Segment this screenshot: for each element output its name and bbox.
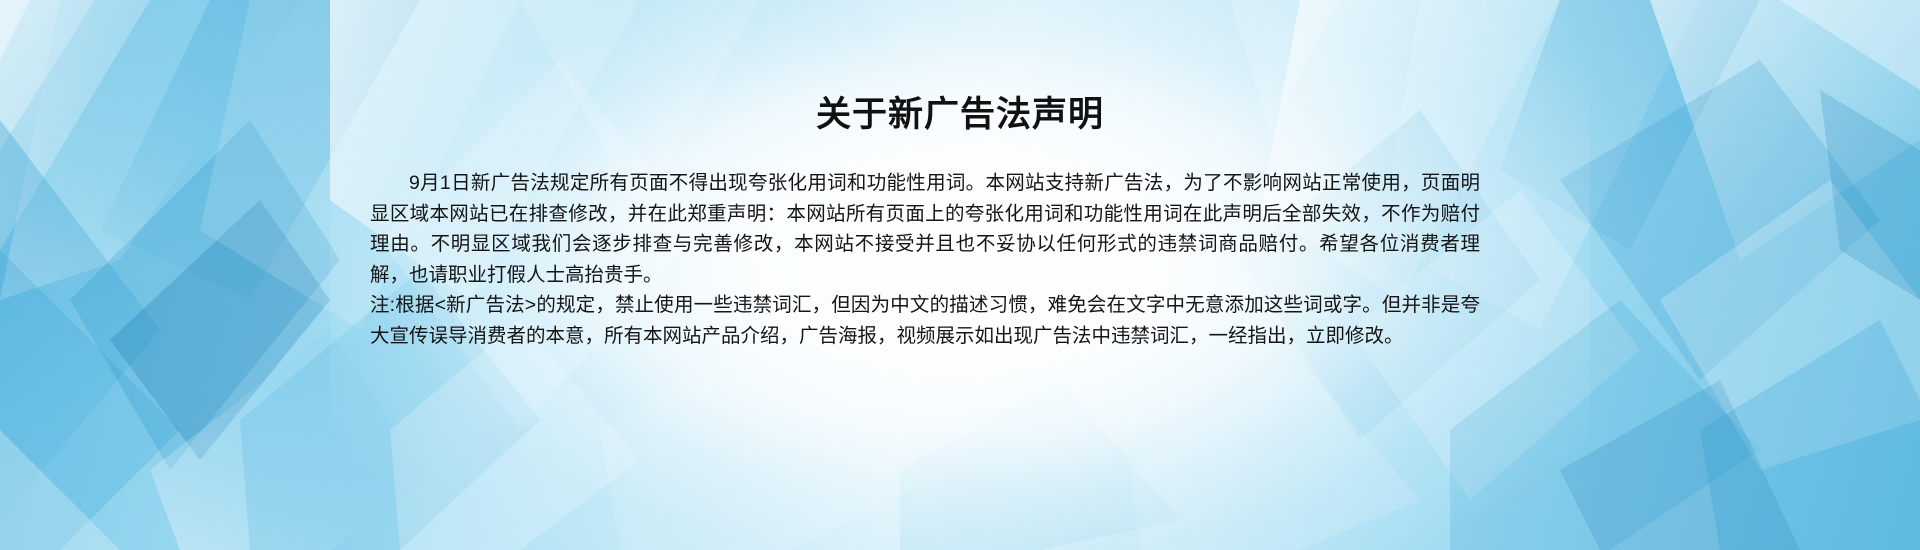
statement-content: 关于新广告法声明 9月1日新广告法规定所有页面不得出现夸张化用词和功能性用词。本… [0, 0, 1920, 550]
statement-banner: 关于新广告法声明 9月1日新广告法规定所有页面不得出现夸张化用词和功能性用词。本… [0, 0, 1920, 550]
statement-paragraph-2: 注:根据<新广告法>的规定，禁止使用一些违禁词汇，但因为中文的描述习惯，难免会在… [370, 290, 1480, 351]
statement-paragraph-1: 9月1日新广告法规定所有页面不得出现夸张化用词和功能性用词。本网站支持新广告法，… [370, 168, 1480, 290]
statement-body: 9月1日新广告法规定所有页面不得出现夸张化用词和功能性用词。本网站支持新广告法，… [370, 168, 1480, 351]
page-title: 关于新广告法声明 [0, 86, 1920, 137]
